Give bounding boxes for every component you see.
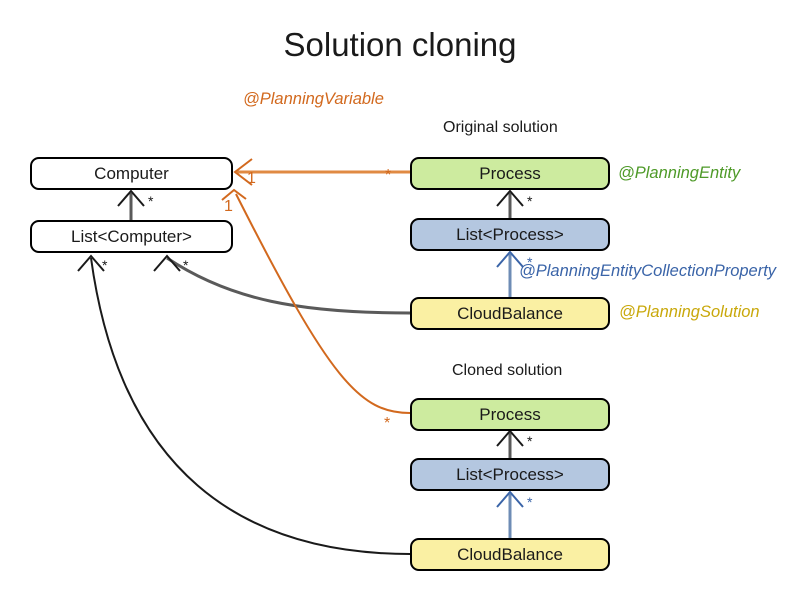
node-cloned-list-process-label: List<Process> [456,466,564,483]
multiplicity-clone-cloudbalance-to-list-process: * [527,495,532,509]
edge-orig-cloudbalance-to-list-computer [154,256,410,313]
page-title: Solution cloning [0,26,800,64]
node-computer[interactable]: Computer [30,157,233,190]
node-original-list-process-label: List<Process> [456,226,564,243]
node-original-list-process[interactable]: List<Process> [410,218,610,251]
node-original-process-label: Process [479,165,540,182]
node-cloned-cloudbalance-label: CloudBalance [457,546,563,563]
edge-clone-list-process-to-process [497,431,523,458]
multiplicity-orig-cloudbalance-to-list-process: * [527,255,532,269]
section-header-cloned-solution: Cloned solution [452,362,562,380]
node-cloned-cloudbalance[interactable]: CloudBalance [410,538,610,571]
edge-orig-list-process-to-process [497,191,523,218]
multiplicity-orig-cloudbalance-to-list-computer: * [183,258,188,272]
node-original-cloudbalance-label: CloudBalance [457,305,563,322]
multiplicity-orig-process-star: * [385,168,391,184]
node-cloned-process[interactable]: Process [410,398,610,431]
annotation-planning-entity-collection-property: @PlanningEntityCollectionProperty [519,262,776,281]
node-list-computer[interactable]: List<Computer> [30,220,233,253]
multiplicity-list-computer-to-computer: * [148,194,153,208]
node-list-computer-label: List<Computer> [71,228,192,245]
node-computer-label: Computer [94,165,169,182]
annotation-planning-variable: @PlanningVariable [243,90,384,109]
edge-clone-process-to-computer [222,190,410,413]
node-original-cloudbalance[interactable]: CloudBalance [410,297,610,330]
node-original-process[interactable]: Process [410,157,610,190]
multiplicity-orig-list-process-to-process: * [527,194,532,208]
solution-cloning-diagram: Solution cloning @PlanningVariable Origi… [0,0,800,600]
section-header-original-solution: Original solution [443,119,558,137]
edge-list-computer-to-computer [118,191,144,220]
multiplicity-clone-cloudbalance-to-list-computer: * [102,258,107,272]
multiplicity-clone-list-process-to-process: * [527,434,532,448]
multiplicity-clone-process-star: * [384,416,390,432]
edge-clone-cloudbalance-to-list-process [497,492,523,538]
annotation-planning-solution: @PlanningSolution [619,303,760,322]
multiplicity-orig-process-to-computer: 1 [247,171,256,187]
edges-layer [0,0,800,600]
annotation-planning-entity: @PlanningEntity [618,164,740,183]
node-cloned-list-process[interactable]: List<Process> [410,458,610,491]
node-cloned-process-label: Process [479,406,540,423]
multiplicity-clone-process-to-computer: 1 [224,199,233,215]
edge-orig-process-to-computer [235,159,410,185]
edge-clone-cloudbalance-to-list-computer [78,256,410,554]
